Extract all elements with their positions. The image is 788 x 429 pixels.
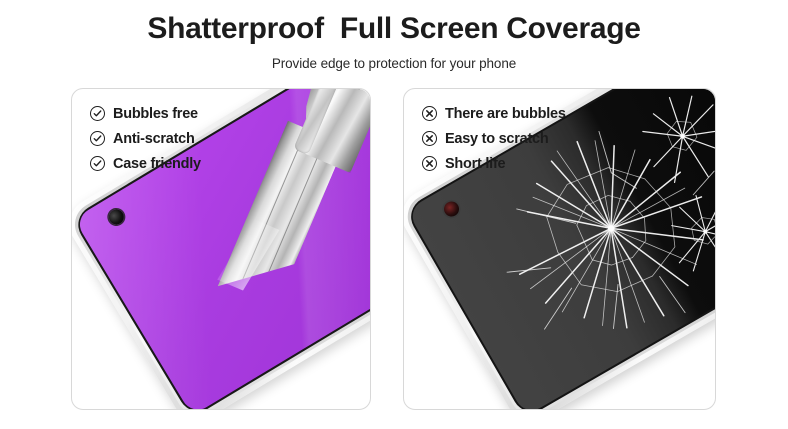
list-item: Easy to scratch xyxy=(422,126,566,151)
comparison-cards: Bubbles free Anti-scratch Case friendly xyxy=(0,0,788,429)
protected-phone-card: Bubbles free Anti-scratch Case friendly xyxy=(71,88,371,410)
list-item: Short life xyxy=(422,151,566,176)
protected-feature-list: Bubbles free Anti-scratch Case friendly xyxy=(90,101,201,176)
check-circle-icon xyxy=(90,131,105,146)
list-item: Case friendly xyxy=(90,151,201,176)
list-item-label: Easy to scratch xyxy=(445,131,548,147)
unprotected-feature-list: There are bubbles Easy to scratch Short … xyxy=(422,101,566,176)
check-circle-icon xyxy=(90,156,105,171)
list-item: There are bubbles xyxy=(422,101,566,126)
check-circle-icon xyxy=(90,106,105,121)
list-item: Bubbles free xyxy=(90,101,201,126)
cross-circle-icon xyxy=(422,131,437,146)
cross-circle-icon xyxy=(422,106,437,121)
list-item-label: Anti-scratch xyxy=(113,131,195,147)
unprotected-phone-card: There are bubbles Easy to scratch Short … xyxy=(403,88,716,410)
list-item: Anti-scratch xyxy=(90,126,201,151)
list-item-label: Case friendly xyxy=(113,156,201,172)
list-item-label: Short life xyxy=(445,156,505,172)
list-item-label: Bubbles free xyxy=(113,106,198,122)
front-camera-icon xyxy=(106,207,127,228)
cross-circle-icon xyxy=(422,156,437,171)
list-item-label: There are bubbles xyxy=(445,106,566,122)
